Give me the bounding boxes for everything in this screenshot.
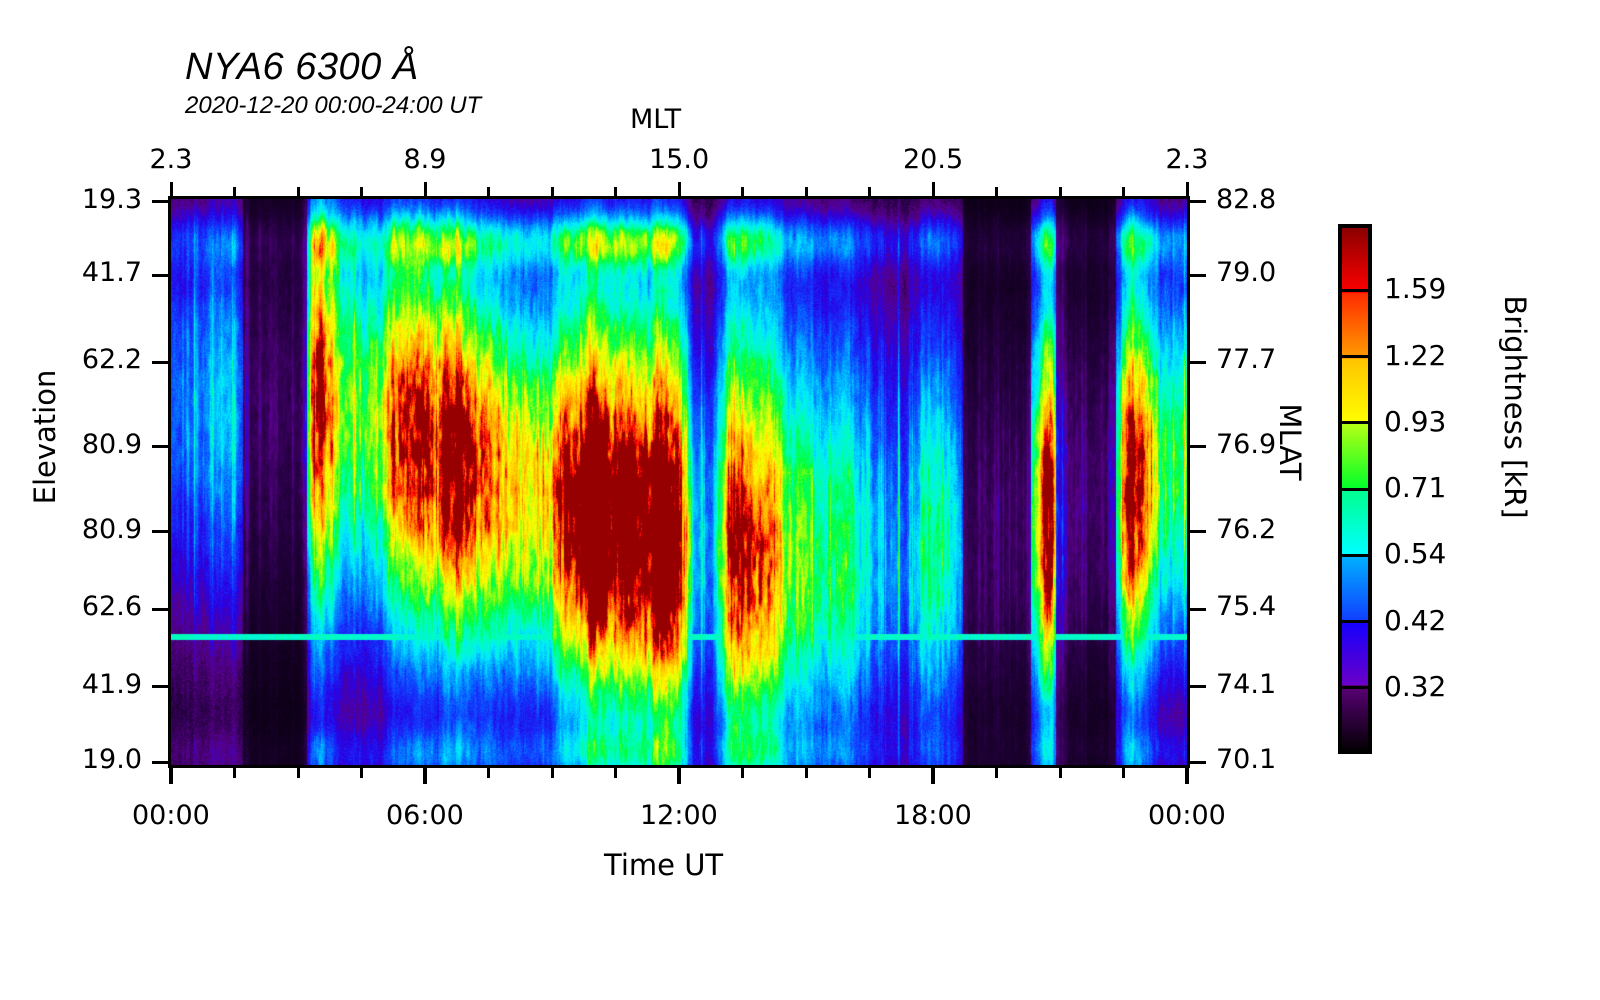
mlat-tick-label: 74.1 bbox=[1216, 669, 1276, 700]
time-minor-tick bbox=[1059, 768, 1062, 778]
elevation-tick bbox=[152, 445, 168, 448]
colorbar-segment bbox=[1342, 359, 1368, 424]
mlt-minor-tick bbox=[360, 187, 363, 196]
mlt-major-tick bbox=[932, 182, 935, 196]
page-title: NYA6 6300 Å bbox=[185, 46, 419, 89]
colorbar-tick-label: 0.93 bbox=[1384, 405, 1446, 438]
mlt-minor-tick bbox=[297, 187, 300, 196]
mlat-tick-label: 76.2 bbox=[1216, 514, 1276, 545]
colorbar-tick-label: 0.71 bbox=[1384, 471, 1446, 504]
mlat-tick-label: 75.4 bbox=[1216, 591, 1276, 622]
colorbar-segment bbox=[1342, 424, 1368, 489]
mlt-major-tick bbox=[678, 182, 681, 196]
elevation-tick-label: 62.6 bbox=[0, 591, 142, 622]
mlt-tick-label: 8.9 bbox=[404, 144, 447, 175]
time-tick-label: 06:00 bbox=[386, 800, 464, 831]
time-major-tick bbox=[423, 768, 427, 784]
colorbar-tick-label: 0.32 bbox=[1384, 670, 1446, 703]
mlt-minor-tick bbox=[805, 187, 808, 196]
keogram-image bbox=[171, 199, 1187, 765]
mlat-tick bbox=[1190, 361, 1206, 364]
time-minor-tick bbox=[868, 768, 871, 778]
time-tick-label: 00:00 bbox=[1148, 800, 1226, 831]
colorbar-tick-label: 1.22 bbox=[1384, 339, 1446, 372]
elevation-tick-label: 80.9 bbox=[0, 429, 142, 460]
mlat-tick-label: 76.9 bbox=[1216, 429, 1276, 460]
colorbar-divider bbox=[1338, 554, 1372, 557]
colorbar-divider bbox=[1338, 620, 1372, 623]
mlt-minor-tick bbox=[741, 187, 744, 196]
mlt-tick-label: 20.5 bbox=[903, 144, 963, 175]
mlat-tick bbox=[1190, 274, 1206, 277]
colorbar-divider bbox=[1338, 289, 1372, 292]
time-minor-tick bbox=[805, 768, 808, 778]
mlt-minor-tick bbox=[868, 187, 871, 196]
mlt-minor-tick bbox=[614, 187, 617, 196]
time-major-tick bbox=[1185, 768, 1189, 784]
time-tick-label: 18:00 bbox=[894, 800, 972, 831]
mlt-minor-tick bbox=[995, 187, 998, 196]
colorbar-divider bbox=[1338, 488, 1372, 491]
mlt-minor-tick bbox=[1122, 187, 1125, 196]
mlt-major-tick bbox=[170, 182, 173, 196]
mlt-minor-tick bbox=[487, 187, 490, 196]
mlat-tick-label: 77.7 bbox=[1216, 344, 1276, 375]
time-minor-tick bbox=[614, 768, 617, 778]
mlt-axis-label: MLT bbox=[630, 104, 681, 135]
mlt-tick-label: 2.3 bbox=[1166, 144, 1209, 175]
keogram-plot-area[interactable] bbox=[168, 196, 1190, 768]
time-major-tick bbox=[931, 768, 935, 784]
time-minor-tick bbox=[995, 768, 998, 778]
time-major-tick bbox=[169, 768, 173, 784]
time-tick-label: 12:00 bbox=[640, 800, 718, 831]
time-minor-tick bbox=[233, 768, 236, 778]
colorbar-divider bbox=[1338, 421, 1372, 424]
colorbar-segment bbox=[1342, 293, 1368, 358]
elevation-tick-label: 19.0 bbox=[0, 744, 142, 775]
elevation-tick-label: 41.9 bbox=[0, 669, 142, 700]
mlt-tick-label: 2.3 bbox=[150, 144, 193, 175]
elevation-tick-label: 62.2 bbox=[0, 344, 142, 375]
colorbar-label: Brightness [kR] bbox=[1498, 287, 1532, 527]
mlat-axis-label: MLAT bbox=[1273, 367, 1307, 517]
mlt-minor-tick bbox=[551, 187, 554, 196]
time-minor-tick bbox=[360, 768, 363, 778]
time-major-tick bbox=[677, 768, 681, 784]
elevation-tick bbox=[152, 200, 168, 203]
mlt-tick-label: 15.0 bbox=[649, 144, 709, 175]
elevation-tick bbox=[152, 761, 168, 764]
mlat-tick bbox=[1190, 608, 1206, 611]
date-range-subtitle: 2020-12-20 00:00-24:00 UT bbox=[185, 92, 481, 120]
colorbar-tick-label: 0.42 bbox=[1384, 604, 1446, 637]
time-axis-label: Time UT bbox=[604, 848, 723, 882]
colorbar-tick-label: 1.59 bbox=[1384, 272, 1446, 305]
mlat-tick bbox=[1190, 530, 1206, 533]
time-minor-tick bbox=[1122, 768, 1125, 778]
time-minor-tick bbox=[297, 768, 300, 778]
mlat-tick bbox=[1190, 200, 1206, 203]
mlat-tick-label: 82.8 bbox=[1216, 184, 1276, 215]
mlat-tick-label: 79.0 bbox=[1216, 257, 1276, 288]
mlat-tick bbox=[1190, 761, 1206, 764]
elevation-tick bbox=[152, 608, 168, 611]
time-minor-tick bbox=[487, 768, 490, 778]
mlt-major-tick bbox=[1186, 182, 1189, 196]
colorbar-tick-label: 0.54 bbox=[1384, 537, 1446, 570]
colorbar-divider bbox=[1338, 355, 1372, 358]
elevation-tick bbox=[152, 361, 168, 364]
colorbar-segment bbox=[1342, 489, 1368, 554]
elevation-tick bbox=[152, 274, 168, 277]
mlat-tick bbox=[1190, 685, 1206, 688]
elevation-tick bbox=[152, 685, 168, 688]
time-minor-tick bbox=[741, 768, 744, 778]
elevation-tick-label: 41.7 bbox=[0, 257, 142, 288]
mlat-tick bbox=[1190, 445, 1206, 448]
colorbar-divider bbox=[1338, 686, 1372, 689]
time-minor-tick bbox=[551, 768, 554, 778]
colorbar-segment bbox=[1342, 554, 1368, 619]
elevation-tick-label: 80.9 bbox=[0, 514, 142, 545]
mlt-major-tick bbox=[424, 182, 427, 196]
colorbar-segment bbox=[1342, 685, 1368, 750]
elevation-tick bbox=[152, 530, 168, 533]
colorbar-segment bbox=[1342, 620, 1368, 685]
colorbar-segment bbox=[1342, 228, 1368, 293]
mlt-minor-tick bbox=[233, 187, 236, 196]
elevation-tick-label: 19.3 bbox=[0, 184, 142, 215]
mlat-tick-label: 70.1 bbox=[1216, 744, 1276, 775]
elevation-axis-label: Elevation bbox=[28, 362, 62, 512]
time-tick-label: 00:00 bbox=[132, 800, 210, 831]
mlt-minor-tick bbox=[1059, 187, 1062, 196]
